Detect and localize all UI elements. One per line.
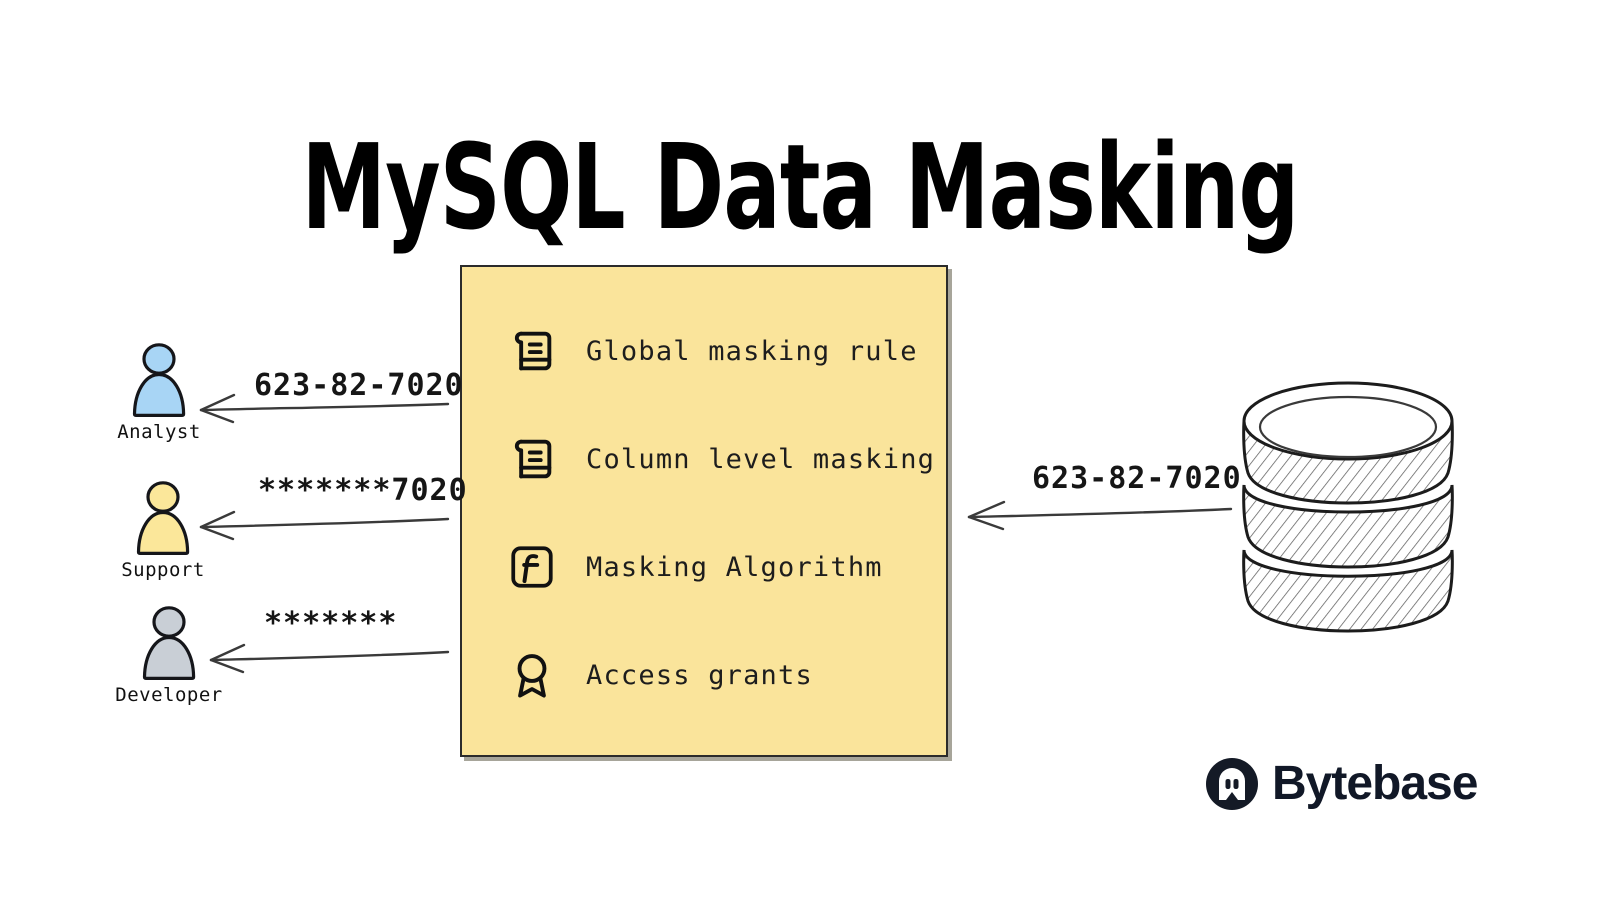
persona-label: Developer — [94, 684, 244, 706]
award-icon — [504, 647, 560, 703]
function-icon — [504, 539, 560, 595]
user-icon — [131, 603, 207, 683]
database-icon — [1228, 375, 1468, 655]
feature-label: Access grants — [586, 660, 813, 691]
feature-label: Global masking rule — [586, 336, 918, 367]
flow-value-analyst: 623-82-7020 — [254, 368, 464, 403]
scroll-icon — [504, 431, 560, 487]
feature-item-masking-algorithm: Masking Algorithm — [462, 527, 946, 607]
feature-label: Column level masking — [586, 444, 935, 475]
bytebase-logo: Bytebase — [1205, 757, 1477, 811]
masking-features-card: Global masking rule Column level masking — [460, 265, 948, 757]
page-title: MySQL Data Masking — [160, 128, 1440, 246]
arrow-from-database — [958, 495, 1233, 535]
user-icon — [121, 340, 197, 420]
bytebase-logo-mark — [1205, 757, 1259, 811]
flow-value-support: *******7020 — [258, 473, 468, 508]
arrow-to-developer — [200, 638, 450, 678]
persona-label: Support — [88, 559, 238, 581]
feature-label: Masking Algorithm — [586, 552, 883, 583]
bytebase-wordmark: Bytebase — [1272, 760, 1477, 808]
scroll-icon — [504, 323, 560, 379]
feature-item-global-masking-rule: Global masking rule — [462, 311, 946, 391]
diagram-canvas: MySQL Data Masking Global masking rule — [0, 0, 1600, 900]
flow-value-source: 623-82-7020 — [1032, 461, 1242, 496]
flow-value-developer: ******* — [264, 606, 397, 641]
feature-list: Global masking rule Column level masking — [462, 297, 946, 729]
feature-item-column-level-masking: Column level masking — [462, 419, 946, 499]
arrow-to-support — [190, 505, 450, 545]
feature-item-access-grants: Access grants — [462, 635, 946, 715]
